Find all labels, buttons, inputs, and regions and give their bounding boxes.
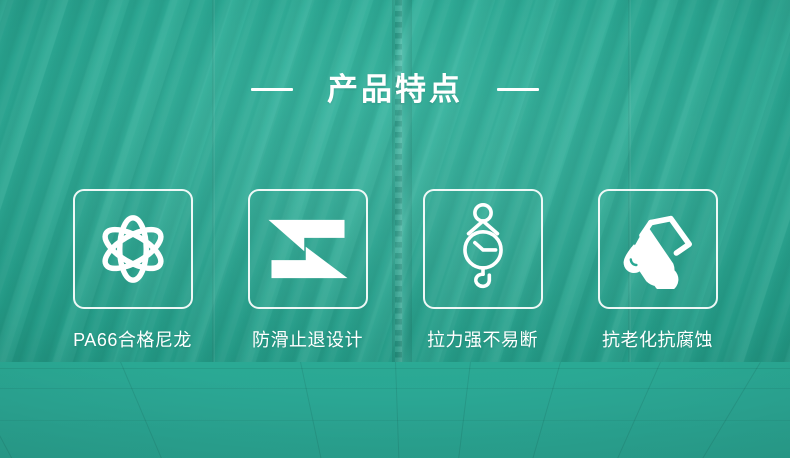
section-title-row: 产品特点 (0, 74, 790, 105)
feature-label: 防滑止退设计 (252, 331, 363, 349)
hanging-scale-icon (453, 203, 513, 295)
feature-list: PA66合格尼龙 防滑止退设计 (0, 189, 790, 349)
test-tube-droplet-icon (618, 209, 698, 289)
feature-icon-card[interactable] (248, 189, 368, 309)
title-rule-left-icon (251, 88, 293, 91)
feature-icon-card[interactable] (73, 189, 193, 309)
feature-item-anti-slip[interactable]: 防滑止退设计 (248, 189, 368, 349)
product-features-banner: 产品特点 PA66合格尼龙 (0, 0, 790, 458)
title-rule-right-icon (497, 88, 539, 91)
page-title: 产品特点 (327, 74, 463, 105)
feature-icon-card[interactable] (598, 189, 718, 309)
feature-label: PA66合格尼龙 (73, 331, 192, 349)
anti-slip-zigzag-icon (267, 218, 349, 280)
feature-item-anti-aging[interactable]: 抗老化抗腐蚀 (598, 189, 718, 349)
background-floor (0, 362, 790, 458)
feature-icon-card[interactable] (423, 189, 543, 309)
atom-icon (94, 210, 172, 288)
feature-label: 抗老化抗腐蚀 (602, 331, 713, 349)
feature-item-tensile-strength[interactable]: 拉力强不易断 (423, 189, 543, 349)
feature-label: 拉力强不易断 (427, 331, 538, 349)
feature-item-material[interactable]: PA66合格尼龙 (73, 189, 193, 349)
